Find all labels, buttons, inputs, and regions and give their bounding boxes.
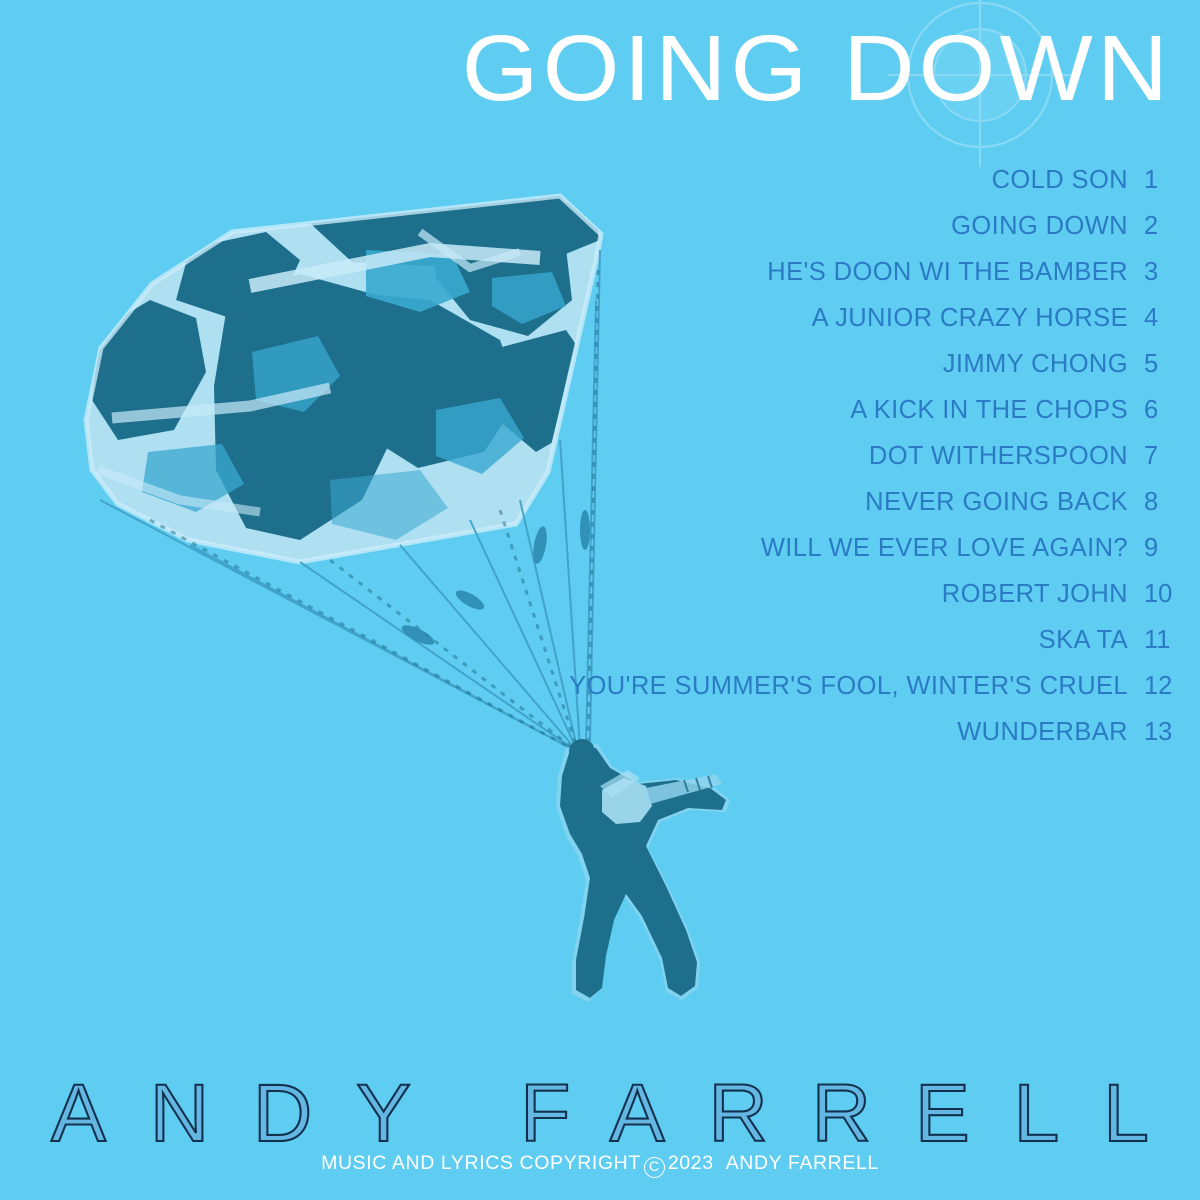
track-title: DOT WITHERSPOON: [869, 442, 1128, 471]
track-row[interactable]: COLD SON 1: [569, 166, 1174, 212]
guitar-neck: [646, 774, 722, 804]
track-title: A JUNIOR CRAZY HORSE: [812, 304, 1128, 333]
tracklist: COLD SON 1 GOING DOWN 2 HE'S DOON WI THE…: [569, 166, 1174, 764]
track-title: A KICK IN THE CHOPS: [850, 396, 1128, 425]
track-number: 5: [1128, 350, 1174, 379]
track-row[interactable]: ROBERT JOHN 10: [569, 580, 1174, 626]
track-row[interactable]: A KICK IN THE CHOPS 6: [569, 396, 1174, 442]
copyright-prefix: MUSIC AND LYRICS COPYRIGHT: [321, 1152, 641, 1174]
track-row[interactable]: HE'S DOON WI THE BAMBER 3: [569, 258, 1174, 304]
track-title: GOING DOWN: [951, 212, 1128, 241]
track-row[interactable]: A JUNIOR CRAZY HORSE 4: [569, 304, 1174, 350]
track-row[interactable]: DOT WITHERSPOON 7: [569, 442, 1174, 488]
track-number: 1: [1128, 166, 1174, 195]
track-row[interactable]: WILL WE EVER LOVE AGAIN? 9: [569, 534, 1174, 580]
track-number: 2: [1128, 212, 1174, 241]
track-row[interactable]: JIMMY CHONG 5: [569, 350, 1174, 396]
track-title: SKA TA: [1039, 626, 1128, 655]
track-number: 4: [1128, 304, 1174, 333]
album-title: GOING DOWN: [461, 22, 1172, 115]
track-title: COLD SON: [992, 166, 1128, 195]
guitar-body: [602, 778, 652, 824]
copyright-holder: ANDY FARRELL: [726, 1152, 879, 1174]
track-title: JIMMY CHONG: [943, 350, 1128, 379]
track-title: WUNDERBAR: [957, 718, 1128, 747]
track-title: YOU'RE SUMMER'S FOOL, WINTER'S CRUEL: [569, 672, 1128, 701]
track-number: 7: [1128, 442, 1174, 471]
track-row[interactable]: NEVER GOING BACK 8: [569, 488, 1174, 534]
track-number: 12: [1128, 672, 1174, 701]
track-row[interactable]: WUNDERBAR 13: [569, 718, 1174, 764]
skydiver-guitarist: [556, 739, 730, 1002]
track-number: 13: [1128, 718, 1174, 747]
track-title: NEVER GOING BACK: [865, 488, 1128, 517]
album-cover: GOING DOWN COLD SON 1 GOING DOWN 2 HE'S …: [0, 0, 1200, 1200]
artist-name: ANDY FARRELL: [0, 1073, 1200, 1155]
track-row[interactable]: SKA TA 11: [569, 626, 1174, 672]
track-title: HE'S DOON WI THE BAMBER: [767, 258, 1128, 287]
suspension-lines: [100, 250, 600, 752]
track-number: 8: [1128, 488, 1174, 517]
track-row[interactable]: GOING DOWN 2: [569, 212, 1174, 258]
track-title: ROBERT JOHN: [942, 580, 1128, 609]
track-number: 11: [1128, 626, 1174, 655]
track-number: 6: [1128, 396, 1174, 425]
track-number: 10: [1128, 580, 1174, 609]
track-row[interactable]: YOU'RE SUMMER'S FOOL, WINTER'S CRUEL 12: [569, 672, 1174, 718]
copyright-year: 2023: [668, 1152, 714, 1174]
track-number: 9: [1128, 534, 1174, 563]
parachute-canopy: [86, 196, 601, 562]
copyright-line: MUSIC AND LYRICS COPYRIGHTC2023 ANDY FAR…: [0, 1152, 1200, 1178]
copyright-symbol-icon: C: [644, 1157, 665, 1178]
track-title: WILL WE EVER LOVE AGAIN?: [761, 534, 1128, 563]
track-number: 3: [1128, 258, 1174, 287]
